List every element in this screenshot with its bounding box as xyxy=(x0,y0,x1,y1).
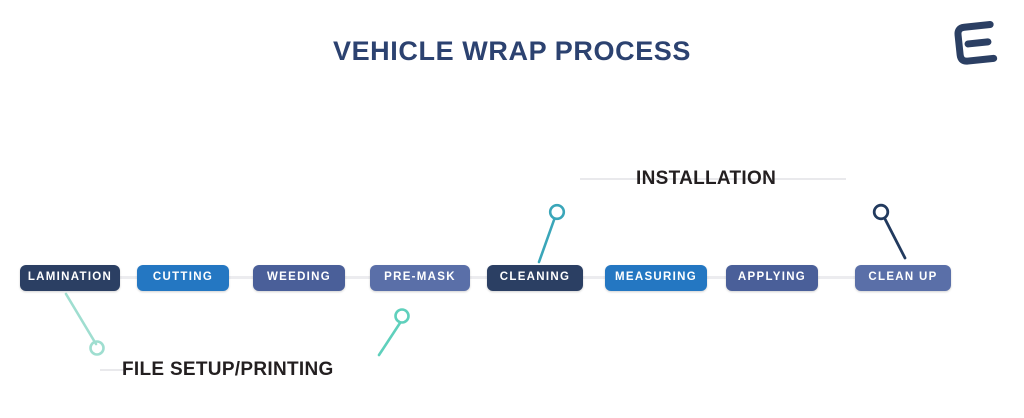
leader-pre-mask xyxy=(379,310,409,356)
leader-cleaning xyxy=(539,205,564,262)
step-label: APPLYING xyxy=(738,272,806,284)
step-label: PRE-MASK xyxy=(384,272,456,284)
infographic-canvas: VEHICLE WRAP PROCESS INSTALLATION FILE S… xyxy=(0,0,1024,418)
step-applying[interactable]: APPLYING xyxy=(726,265,818,291)
step-label: CLEAN UP xyxy=(868,272,937,284)
step-label: WEEDING xyxy=(267,272,331,284)
step-cleaning[interactable]: CLEANING xyxy=(487,265,583,291)
track-segment xyxy=(468,276,489,279)
track-segment xyxy=(343,276,372,279)
leader-clean-up xyxy=(874,205,905,258)
group-label-file-setup-printing: FILE SETUP/PRINTING xyxy=(122,359,334,381)
step-clean-up[interactable]: CLEAN UP xyxy=(855,265,951,291)
step-label: CUTTING xyxy=(153,272,213,284)
page-title: VEHICLE WRAP PROCESS xyxy=(0,36,1024,67)
track-segment xyxy=(816,276,857,279)
step-label: LAMINATION xyxy=(28,272,112,284)
group-label-installation: INSTALLATION xyxy=(636,168,776,190)
track-segment xyxy=(227,276,255,279)
step-label: CLEANING xyxy=(500,272,570,284)
step-cutting[interactable]: CUTTING xyxy=(137,265,229,291)
step-lamination[interactable]: LAMINATION xyxy=(20,265,120,291)
step-pre-mask[interactable]: PRE-MASK xyxy=(370,265,470,291)
step-label: MEASURING xyxy=(615,272,697,284)
leader-lamination xyxy=(66,294,104,355)
step-measuring[interactable]: MEASURING xyxy=(605,265,707,291)
track-segment xyxy=(581,276,607,279)
track-segment xyxy=(705,276,728,279)
step-weeding[interactable]: WEEDING xyxy=(253,265,345,291)
e-logo xyxy=(948,14,1006,72)
